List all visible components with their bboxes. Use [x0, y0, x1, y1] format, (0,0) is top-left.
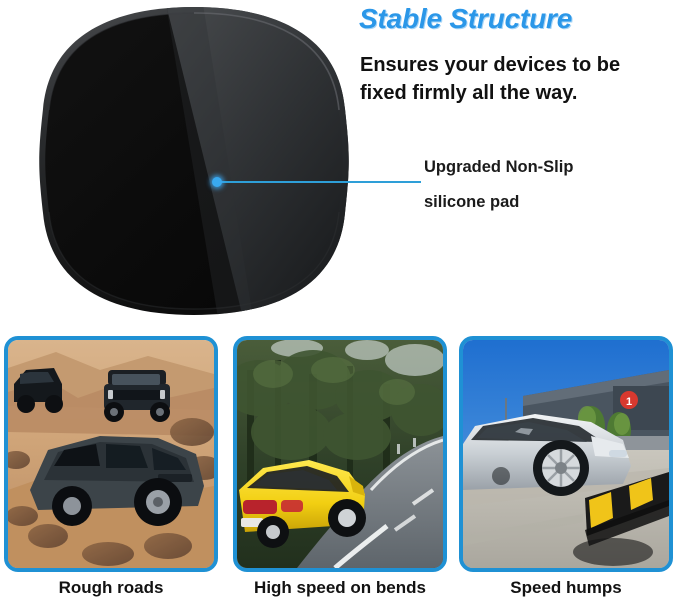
caption-rough-roads: Rough roads [4, 578, 218, 598]
callout-leader-line [216, 181, 421, 183]
callout-label: Upgraded Non-Slip silicone pad [424, 150, 674, 221]
speed-humps-photo: 1 [463, 340, 669, 568]
scenario-panels: 1 [0, 336, 679, 576]
page-title: Stable Structure [359, 3, 572, 35]
caption-speed-humps: Speed humps [459, 578, 673, 598]
svg-text:1: 1 [626, 396, 632, 408]
callout-anchor-dot [212, 177, 222, 187]
scenario-panel-rough-roads [4, 336, 218, 572]
caption-high-speed-on-bends: High speed on bends [233, 578, 447, 598]
scenario-panel-speed-humps: 1 [459, 336, 673, 572]
scenario-panel-high-speed-on-bends [233, 336, 447, 572]
product-device-illustration [38, 4, 350, 318]
rough-roads-photo [8, 340, 214, 568]
subtitle-line-1: Ensures your devices to be [360, 52, 660, 80]
callout-label-line-2: silicone pad [424, 185, 674, 220]
hero-section: Stable Structure Ensures your devices to… [0, 0, 679, 330]
callout-label-line-1: Upgraded Non-Slip [424, 150, 674, 185]
subtitle-line-2: fixed firmly all the way. [360, 80, 660, 108]
high-speed-photo [237, 340, 443, 568]
subtitle: Ensures your devices to be fixed firmly … [360, 52, 660, 107]
product-image [38, 4, 350, 318]
